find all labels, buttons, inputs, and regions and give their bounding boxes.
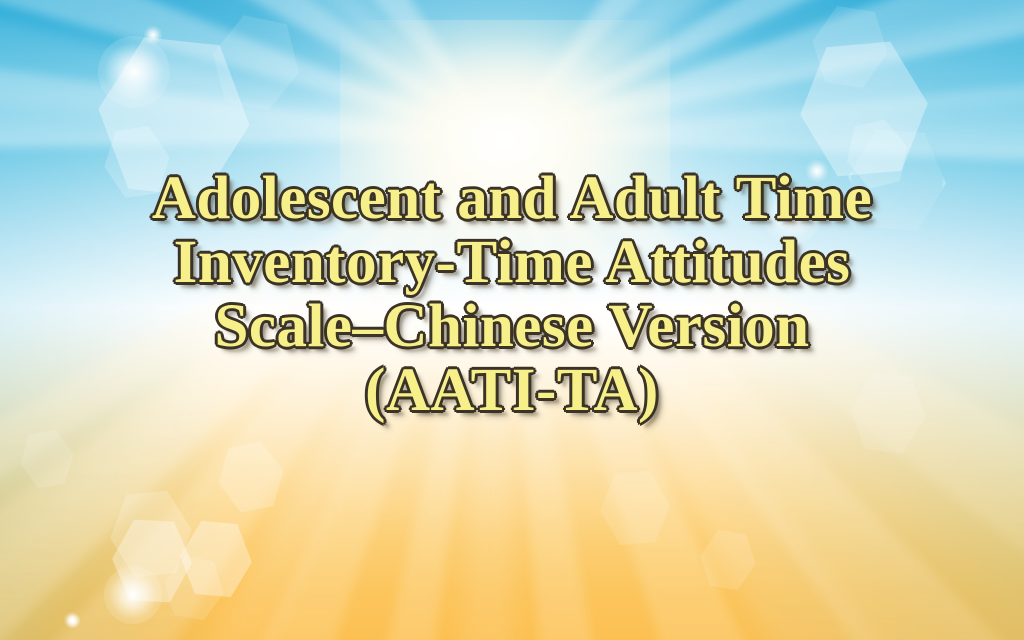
title-banner: Adolescent and Adult Time Inventory-Time… (0, 0, 1024, 640)
title-line-3: Scale–Chinese Version (0, 295, 1024, 359)
title-line-4: (AATI-TA) (0, 359, 1024, 423)
banner-title: Adolescent and Adult Time Inventory-Time… (0, 167, 1024, 423)
title-line-2: Inventory-Time Attitudes (0, 231, 1024, 295)
title-line-1: Adolescent and Adult Time (0, 167, 1024, 231)
